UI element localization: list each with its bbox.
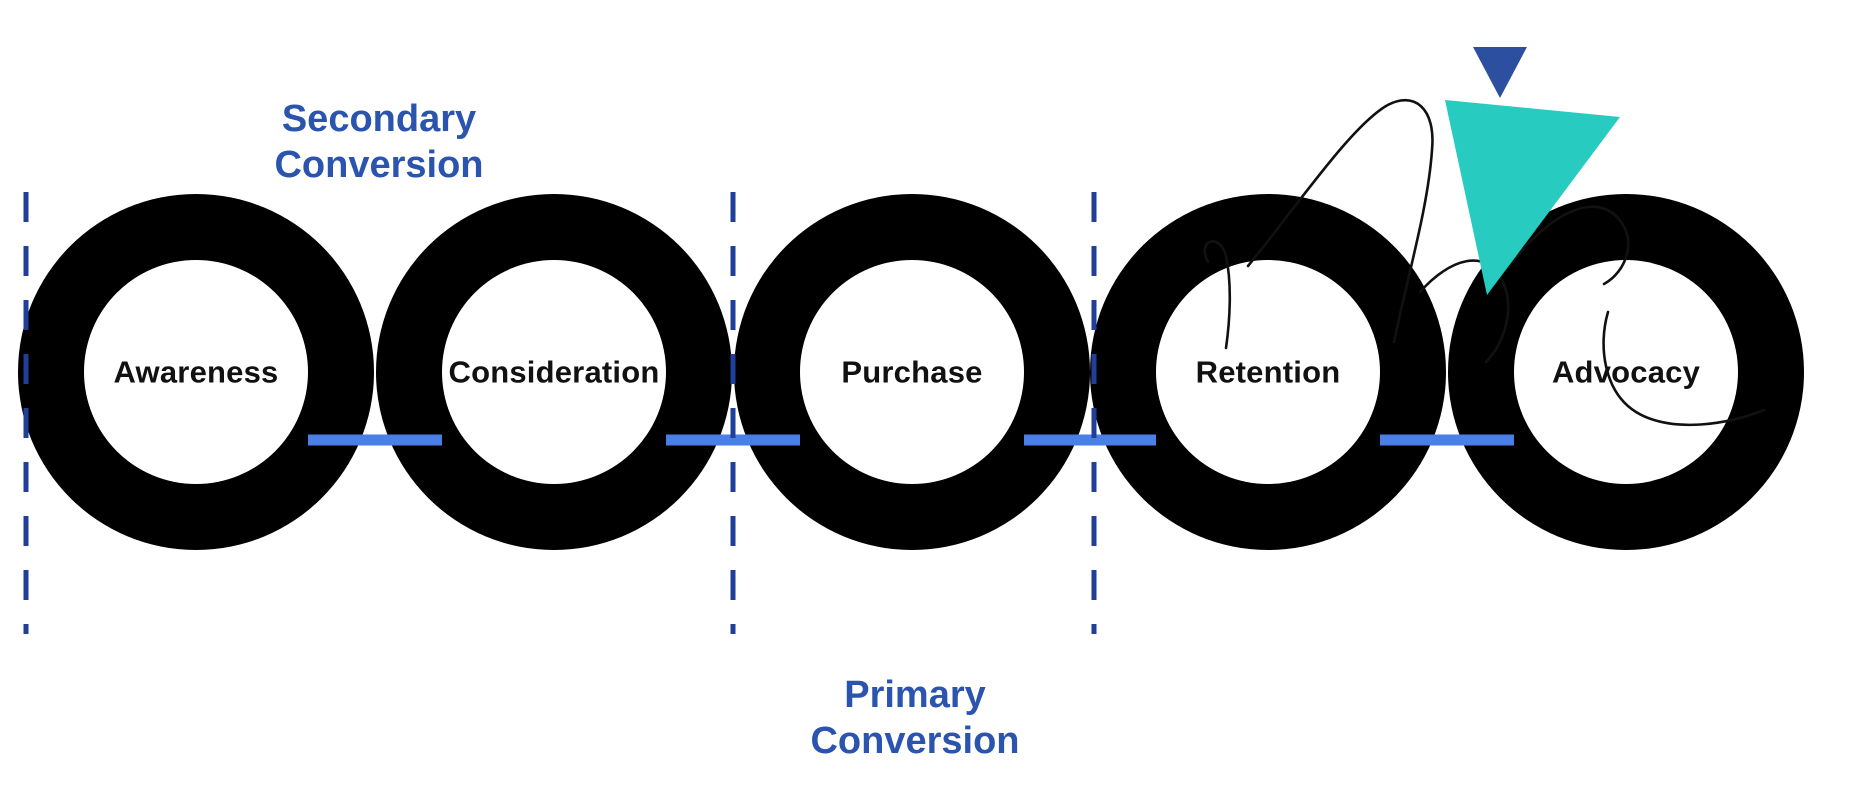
annotation-primary-conversion-line1: Primary — [810, 672, 1019, 718]
annotation-primary-conversion-line2: Conversion — [810, 718, 1019, 764]
diagram-canvas: AwarenessConsiderationPurchaseRetentionA… — [0, 0, 1855, 809]
funnel-core-consideration — [442, 260, 666, 484]
annotation-primary-conversion: PrimaryConversion — [810, 672, 1019, 765]
annotation-secondary-conversion: SecondaryConversion — [274, 96, 483, 189]
annotation-secondary-conversion-line1: Secondary — [274, 96, 483, 142]
funnel-core-awareness — [84, 260, 308, 484]
funnel-core-retention — [1156, 260, 1380, 484]
funnel-core-advocacy — [1514, 260, 1738, 484]
funnel-core-purchase — [800, 260, 1024, 484]
annotation-secondary-conversion-line2: Conversion — [274, 142, 483, 188]
funnel-rings-group — [18, 194, 1804, 550]
cursor-triangle-blue[interactable] — [1473, 47, 1527, 98]
